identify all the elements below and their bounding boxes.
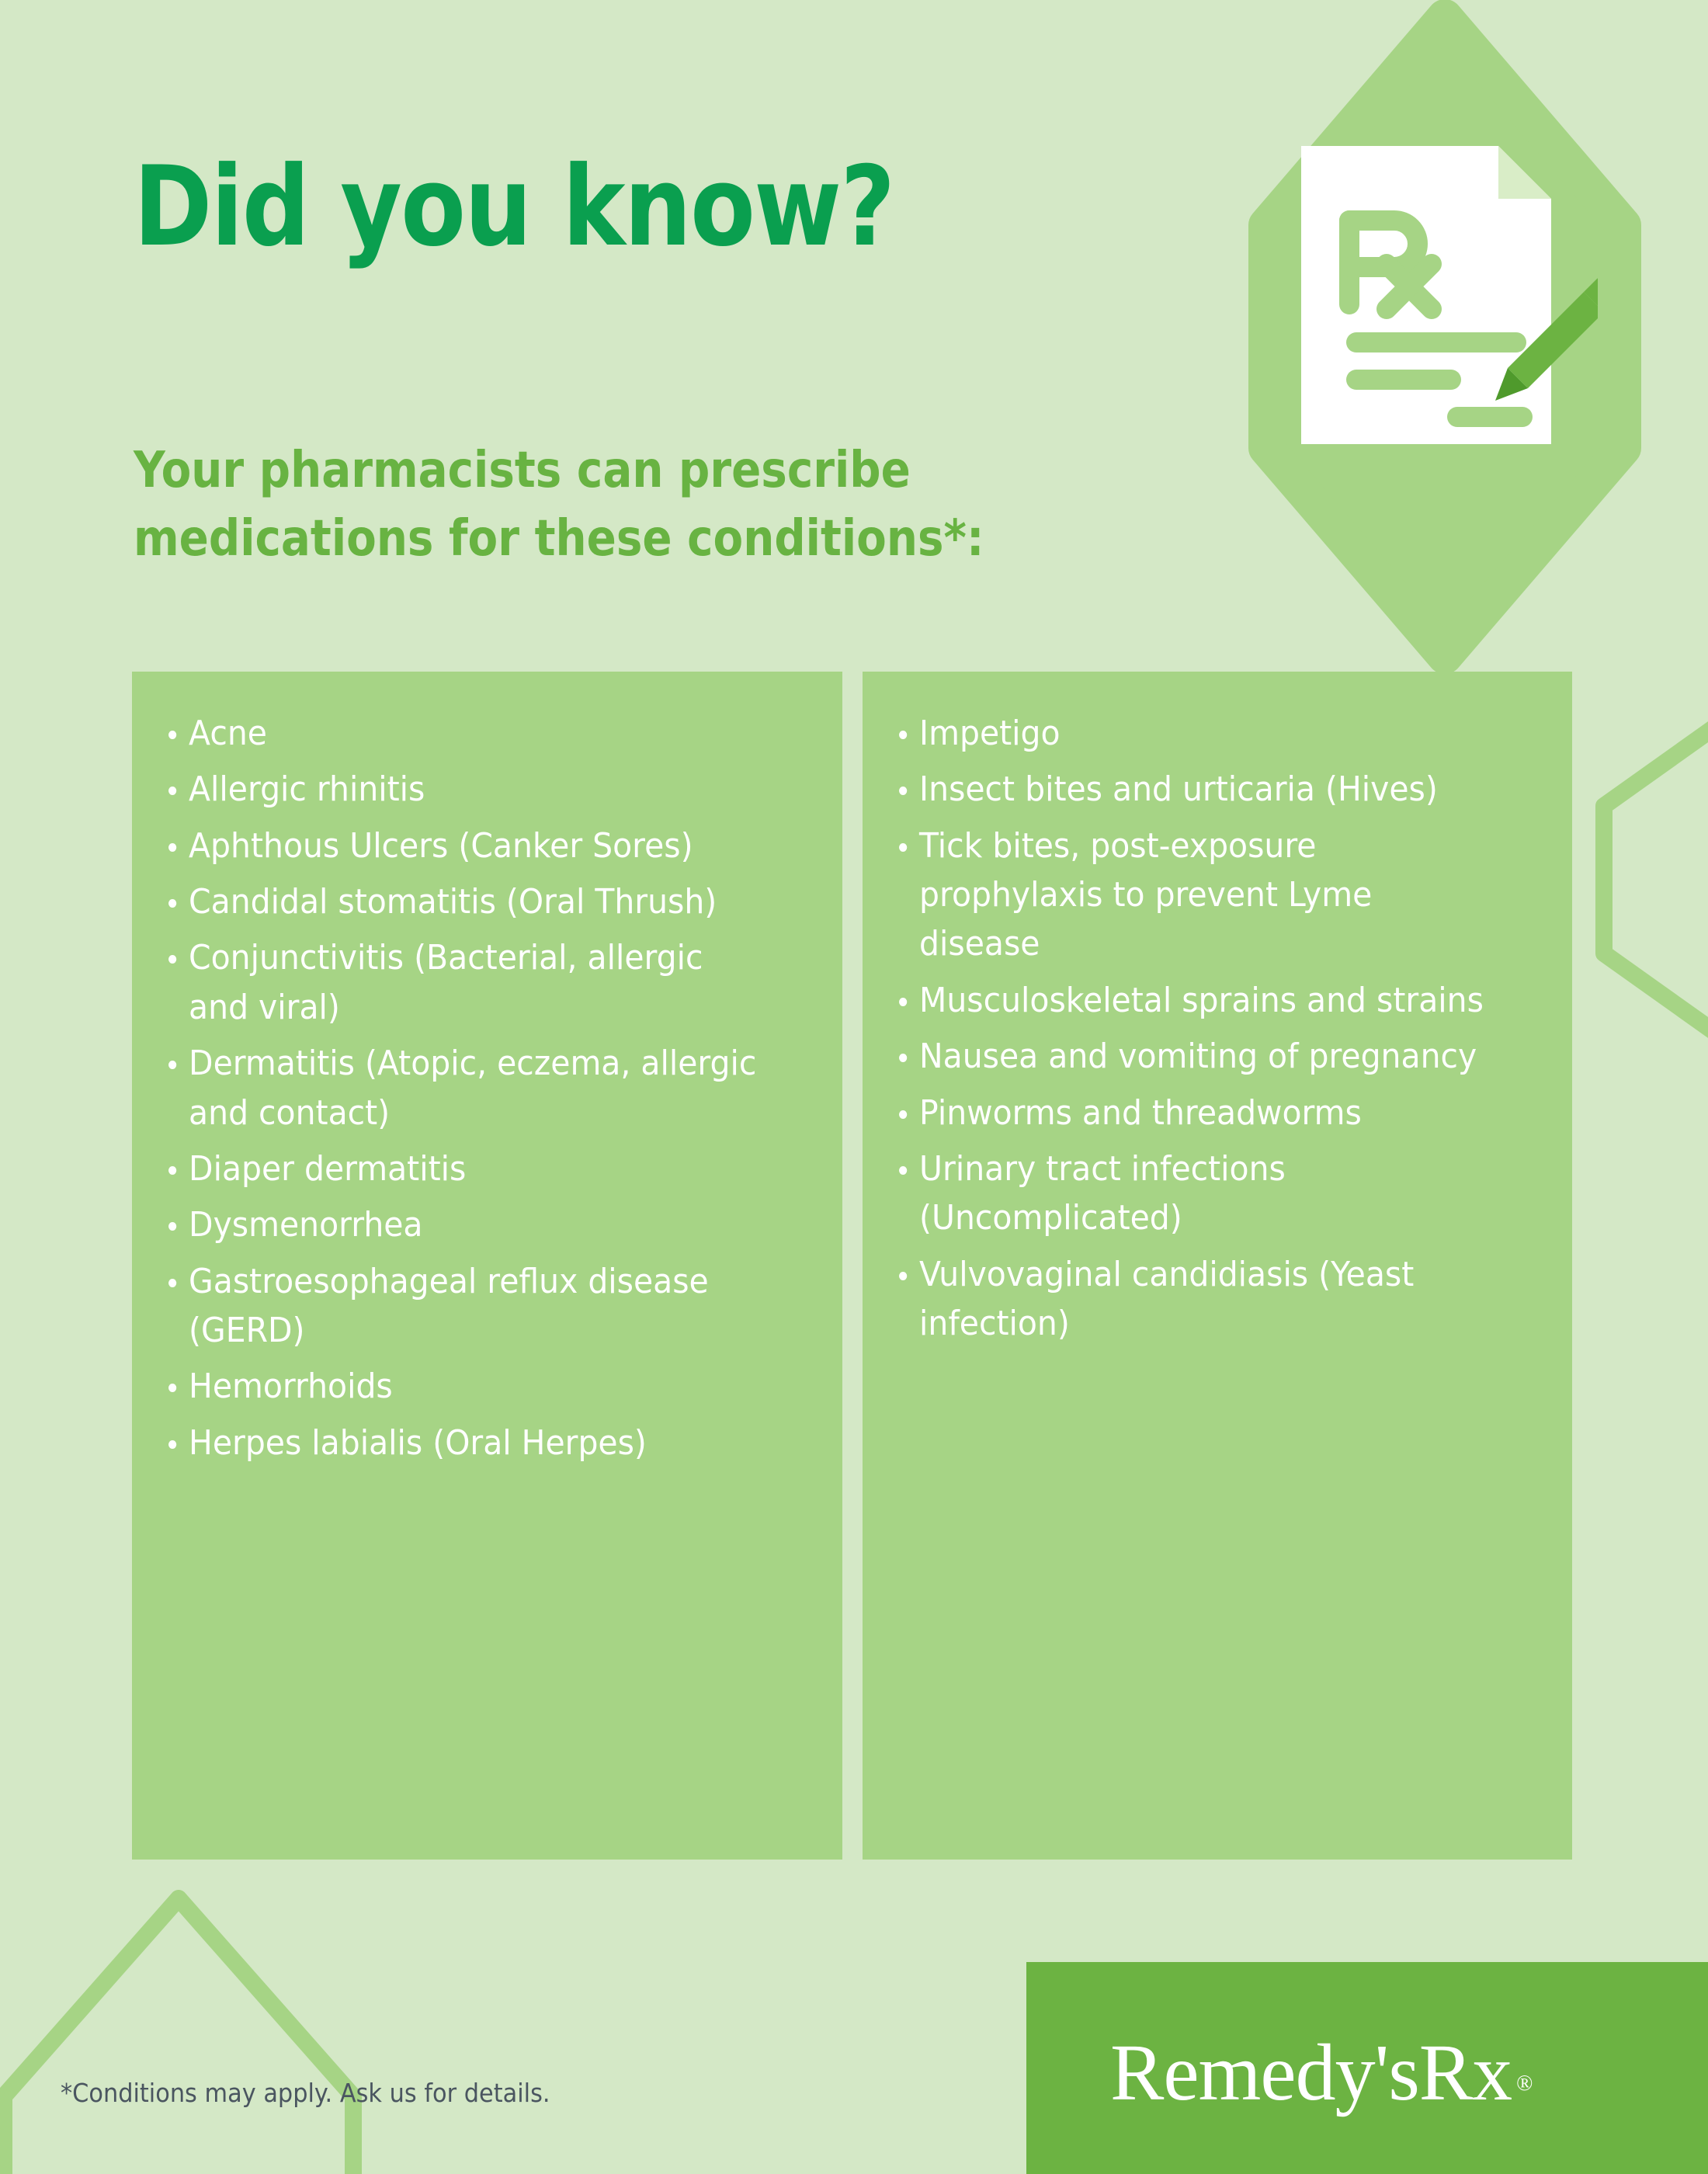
- list-item: Pinworms and threadworms: [889, 1089, 1500, 1137]
- disclaimer-text: *Conditions may apply. Ask us for detail…: [61, 2078, 550, 2108]
- list-item: Aphthous Ulcers (Canker Sores): [158, 821, 770, 870]
- list-item: Dermatitis (Atopic, eczema, allergic and…: [158, 1039, 770, 1137]
- list-item: Gastroesophageal reflux disease (GERD): [158, 1257, 770, 1356]
- registered-trademark-icon: ®: [1516, 2072, 1532, 2096]
- page-subtitle-line-2: medications for these conditions*:: [134, 505, 984, 573]
- conditions-panel-right: Impetigo Insect bites and urticaria (Hiv…: [863, 672, 1572, 1860]
- list-item: Vulvovaginal candidiasis (Yeast infectio…: [889, 1250, 1500, 1349]
- conditions-list-right: Impetigo Insect bites and urticaria (Hiv…: [889, 709, 1546, 1348]
- conditions-list-left: Acne Allergic rhinitis Aphthous Ulcers (…: [158, 709, 816, 1467]
- poster-root: Did you know? Your pharmacists can presc…: [0, 0, 1708, 2174]
- hexagon-outline-right-edge: [1604, 668, 1708, 1092]
- list-item: Nausea and vomiting of pregnancy: [889, 1032, 1500, 1081]
- list-item: Dysmenorrhea: [158, 1200, 770, 1249]
- list-item: Herpes labialis (Oral Herpes): [158, 1419, 770, 1467]
- list-item: Hemorrhoids: [158, 1362, 770, 1411]
- list-item: Conjunctivitis (Bacterial, allergic and …: [158, 933, 770, 1032]
- list-item: Diaper dermatitis: [158, 1144, 770, 1193]
- list-item: Insect bites and urticaria (Hives): [889, 765, 1500, 814]
- page-subtitle: Your pharmacists can prescribe medicatio…: [134, 436, 984, 574]
- list-item: Musculoskeletal sprains and strains: [889, 976, 1500, 1025]
- prescription-document-with-pencil-icon: [1295, 140, 1598, 450]
- page-title: Did you know?: [134, 152, 894, 262]
- list-item: Impetigo: [889, 709, 1500, 758]
- list-item: Urinary tract infections (Uncomplicated): [889, 1144, 1500, 1243]
- list-item: Acne: [158, 709, 770, 758]
- conditions-panel-left: Acne Allergic rhinitis Aphthous Ulcers (…: [132, 672, 842, 1860]
- list-item: Candidal stomatitis (Oral Thrush): [158, 877, 770, 926]
- brand-name-text: Remedy'sRx: [1110, 2028, 1512, 2117]
- conditions-panels: Acne Allergic rhinitis Aphthous Ulcers (…: [132, 672, 1572, 1860]
- page-subtitle-line-1: Your pharmacists can prescribe: [134, 436, 984, 505]
- hexagon-outline-bottom-left: [4, 1898, 353, 2174]
- brand-wordmark: Remedy'sRx®: [1110, 2026, 1532, 2119]
- list-item: Allergic rhinitis: [158, 765, 770, 814]
- list-item: Tick bites, post-exposure prophylaxis to…: [889, 821, 1500, 969]
